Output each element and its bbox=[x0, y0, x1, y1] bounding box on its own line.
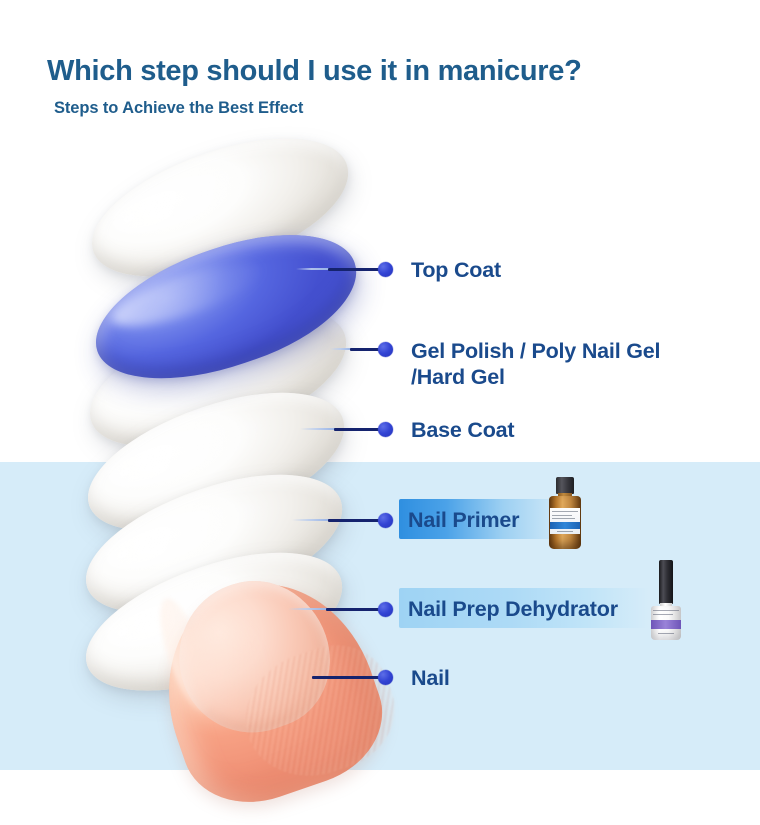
callout-line-base-coat bbox=[334, 428, 382, 431]
product-bottle-nail-prep-dehydrator[interactable] bbox=[648, 560, 684, 640]
bottle-cap-dehydrator bbox=[659, 560, 673, 604]
callout-label-top-coat: Top Coat bbox=[411, 257, 501, 283]
bottle-label-line bbox=[552, 518, 575, 519]
callout-line-top-coat bbox=[328, 268, 382, 271]
callout-faint-segment-gel bbox=[330, 348, 352, 350]
callout-faint-segment-dehydrator bbox=[288, 608, 328, 610]
bottle-label-band-dehydrator bbox=[651, 620, 681, 629]
callout-label-gel-polish: Gel Polish / Poly Nail Gel /Hard Gel bbox=[411, 338, 660, 390]
bottle-label-band-primer bbox=[550, 522, 580, 529]
callout-label-nail: Nail bbox=[411, 665, 450, 691]
callout-label-nail-prep-dehydrator: Nail Prep Dehydrator bbox=[408, 596, 618, 622]
callout-faint-segment-primer bbox=[292, 519, 330, 521]
callout-dot-base-coat[interactable] bbox=[378, 422, 393, 437]
bottle-label-line bbox=[658, 633, 674, 634]
bottle-label-line bbox=[552, 515, 572, 516]
callout-dot-nail[interactable] bbox=[378, 670, 393, 685]
callout-dot-dehydrator[interactable] bbox=[378, 602, 393, 617]
callout-dot-primer[interactable] bbox=[378, 513, 393, 528]
bottle-label-line bbox=[653, 614, 673, 615]
bottle-label-line bbox=[552, 511, 578, 512]
callout-line-nail bbox=[312, 676, 382, 679]
callout-faint-segment-top-coat bbox=[296, 268, 330, 270]
callout-line-primer bbox=[328, 519, 382, 522]
callout-dot-gel[interactable] bbox=[378, 342, 393, 357]
bottle-cap-primer bbox=[556, 477, 574, 494]
callout-label-base-coat: Base Coat bbox=[411, 417, 514, 443]
callout-faint-segment-base-coat bbox=[300, 428, 336, 430]
callout-line-dehydrator bbox=[326, 608, 382, 611]
bottle-label-line bbox=[557, 531, 573, 532]
product-bottle-nail-primer[interactable] bbox=[545, 477, 585, 549]
callout-label-nail-primer: Nail Primer bbox=[408, 507, 519, 533]
bottle-label-line bbox=[653, 610, 679, 611]
callout-dot-top-coat[interactable] bbox=[378, 262, 393, 277]
